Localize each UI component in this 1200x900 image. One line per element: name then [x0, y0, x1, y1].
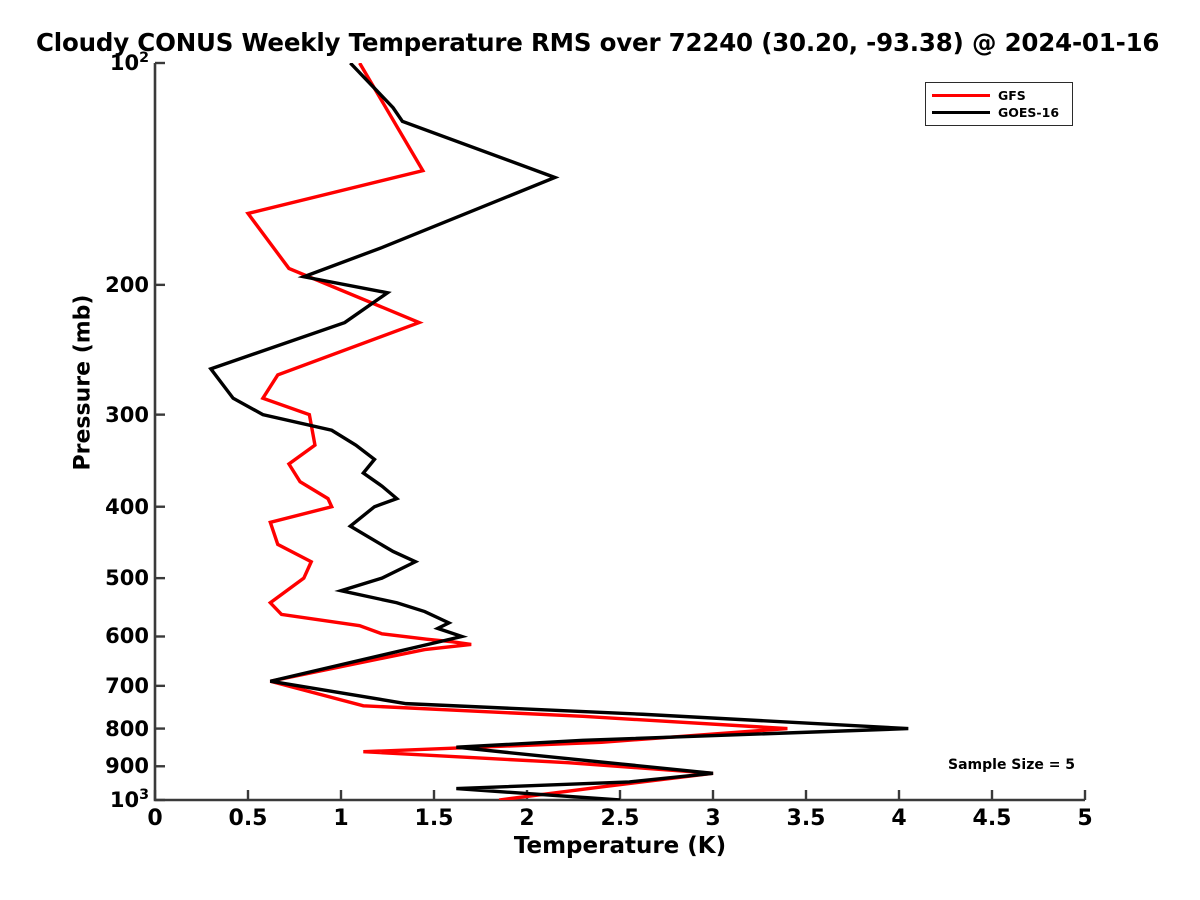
y-tick-label: 900 [105, 754, 149, 778]
y-tick-label: 200 [105, 273, 149, 297]
y-axis-label: Pressure (mb) [71, 283, 96, 483]
legend-color-swatch [932, 94, 990, 97]
x-tick-label: 0.5 [229, 806, 268, 831]
legend-item-gfs: GFS [932, 87, 1066, 104]
y-tick-label: 600 [105, 624, 149, 648]
y-tick-label: 400 [105, 495, 149, 519]
y-tick-label: 800 [105, 717, 149, 741]
chart-figure: Cloudy CONUS Weekly Temperature RMS over… [0, 0, 1200, 900]
data-series-group [211, 63, 909, 800]
x-tick-label: 3.5 [787, 806, 826, 831]
y-tick-label: 103 [110, 788, 149, 812]
axis-spine [155, 63, 1085, 800]
x-tick-label: 0 [147, 806, 162, 831]
x-tick-label: 4 [891, 806, 906, 831]
y-tick-label: 102 [110, 51, 149, 75]
x-tick-label: 3 [705, 806, 720, 831]
chart-legend: GFSGOES-16 [925, 82, 1073, 126]
legend-color-swatch [932, 111, 990, 114]
x-tick-label: 1 [333, 806, 348, 831]
axes-group [155, 63, 1085, 800]
x-tick-label: 1.5 [415, 806, 454, 831]
y-tick-label: 700 [105, 674, 149, 698]
x-axis-label: Temperature (K) [155, 833, 1085, 859]
y-tick-label: 500 [105, 566, 149, 590]
x-tick-label: 4.5 [973, 806, 1012, 831]
y-tick-label: 300 [105, 403, 149, 427]
legend-item-goes-16: GOES-16 [932, 104, 1066, 121]
series-line-goes-16 [211, 63, 909, 800]
legend-label: GOES-16 [998, 105, 1059, 120]
x-tick-label: 2.5 [601, 806, 640, 831]
sample-size-annotation: Sample Size = 5 [948, 757, 1075, 773]
x-tick-label: 5 [1077, 806, 1092, 831]
legend-label: GFS [998, 88, 1026, 103]
x-tick-label: 2 [519, 806, 534, 831]
